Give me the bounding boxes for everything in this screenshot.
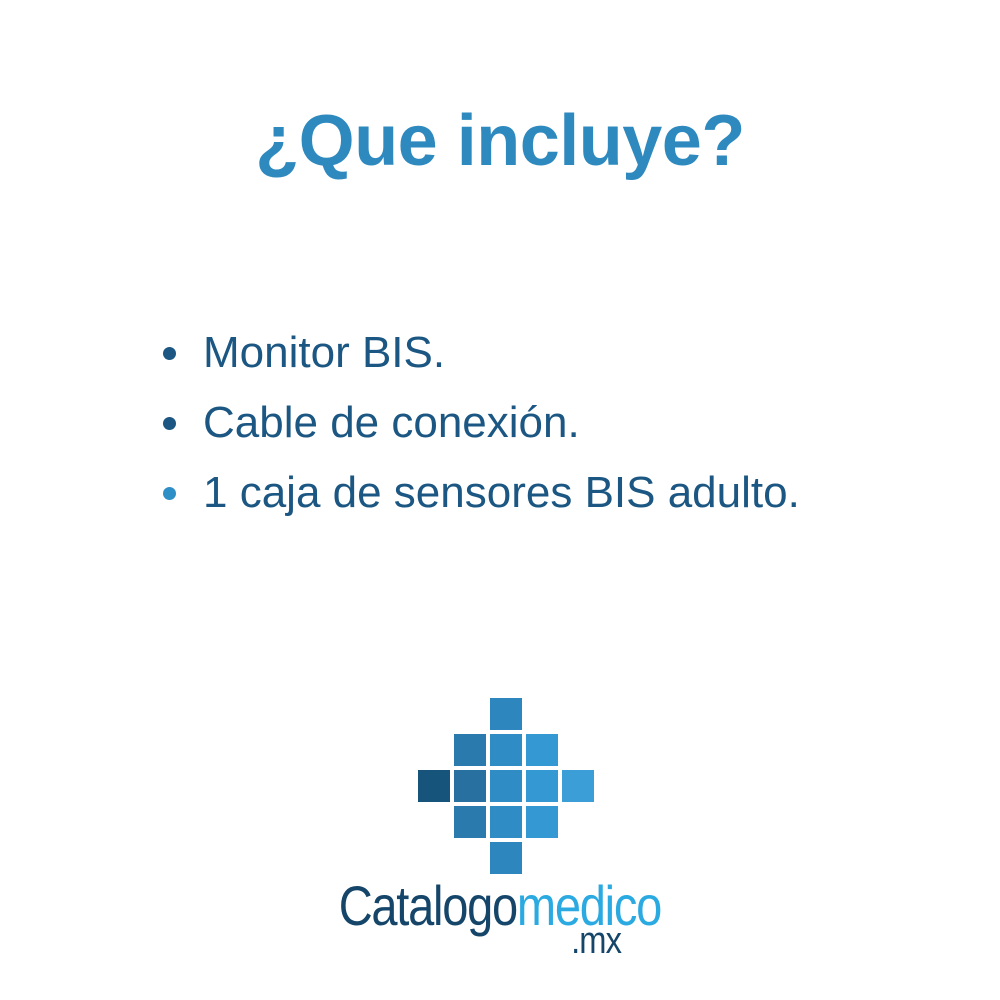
wordmark-dark-part: Catalogo <box>339 874 517 937</box>
logo-cell-r2-c3 <box>526 770 558 802</box>
includes-list: Monitor BIS. Cable de conexión. 1 caja d… <box>155 318 955 528</box>
wordmark-light-part: medico <box>517 874 661 937</box>
logo-cell-r2-c2 <box>490 770 522 802</box>
logo-cell-r0-c2 <box>490 698 522 730</box>
list-item: 1 caja de sensores BIS adulto. <box>155 458 955 528</box>
wordmark-text: Catalogomedico <box>339 878 661 934</box>
list-item-label: Monitor BIS. <box>203 328 445 377</box>
logo-cell-r4-c2 <box>490 842 522 874</box>
logo-cell-r1-c3 <box>526 734 558 766</box>
logo-cell-r3-c1 <box>454 806 486 838</box>
logo-cell-r1-c2 <box>490 734 522 766</box>
bullet-dot-icon <box>163 417 176 430</box>
list-item: Monitor BIS. <box>155 318 955 388</box>
list-item-label: Cable de conexión. <box>203 398 580 447</box>
list-item-label: 1 caja de sensores BIS adulto. <box>203 468 800 517</box>
logo-cell-r1-c1 <box>454 734 486 766</box>
page-title: ¿Que incluye? <box>0 98 1000 184</box>
list-item: Cable de conexión. <box>155 388 955 458</box>
logo-cell-r2-c4 <box>562 770 594 802</box>
cross-logo-icon <box>411 694 589 872</box>
bullet-dot-icon <box>163 347 176 360</box>
logo-cell-r2-c0 <box>418 770 450 802</box>
logo-cell-r3-c2 <box>490 806 522 838</box>
logo-cell-r3-c3 <box>526 806 558 838</box>
slide-canvas: ¿Que incluye? Monitor BIS. Cable de cone… <box>0 0 1000 1000</box>
brand-wordmark: Catalogomedico .mx <box>0 878 1000 952</box>
logo-cell-r2-c1 <box>454 770 486 802</box>
bullet-dot-icon <box>163 487 176 500</box>
brand-logo: Catalogomedico .mx <box>0 694 1000 952</box>
